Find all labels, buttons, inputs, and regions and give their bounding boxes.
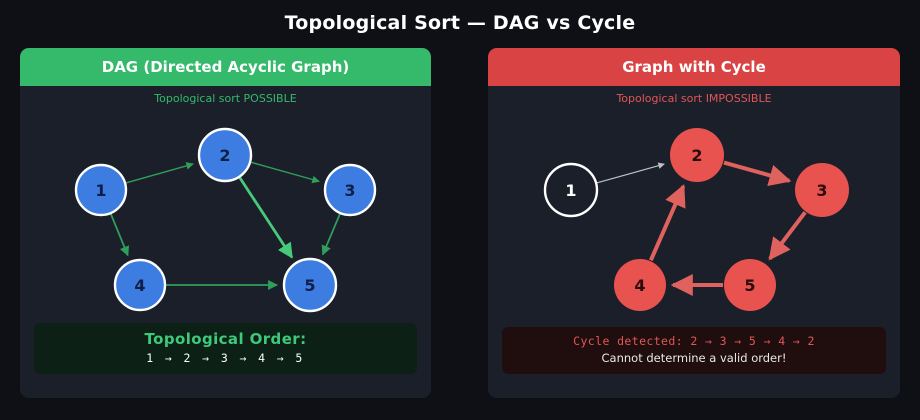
panel-dag: DAG (Directed Acyclic Graph) Topological… (20, 48, 431, 398)
graph-node-label: 5 (744, 276, 755, 295)
graph-node-label: 5 (304, 276, 315, 295)
graph-node-label: 1 (565, 181, 576, 200)
panel-cycle: Graph with Cycle Topological sort IMPOSS… (488, 48, 900, 398)
topological-order-title: Topological Order: (42, 330, 409, 348)
graph-node-label: 2 (691, 146, 702, 165)
graph-node-3[interactable]: 3 (795, 163, 849, 217)
graph-node-1[interactable]: 1 (545, 164, 597, 216)
graph-node-4[interactable]: 4 (614, 259, 666, 311)
cycle-detected-note: Cannot determine a valid order! (510, 351, 878, 365)
graph-node-2[interactable]: 2 (199, 129, 251, 181)
graph-node-3[interactable]: 3 (325, 165, 375, 215)
graph-edge-2-to-3 (251, 162, 319, 181)
graph-node-1[interactable]: 1 (76, 165, 126, 215)
cycle-detected-box: Cycle detected: 2 → 3 → 5 → 4 → 2 Cannot… (502, 327, 886, 374)
graph-edge-1-to-2 (597, 164, 664, 183)
graph-node-label: 4 (634, 276, 645, 295)
graph-node-5[interactable]: 5 (284, 259, 336, 311)
graph-node-5[interactable]: 5 (724, 259, 776, 311)
graph-node-label: 2 (219, 146, 230, 165)
app-root: Topological Sort — DAG vs Cycle DAG (Dir… (0, 0, 920, 420)
graph-edge-2-to-5 (240, 178, 292, 258)
graph-edge-3-to-5 (323, 214, 340, 255)
graph-node-label: 4 (134, 276, 145, 295)
graph-edge-4-to-2 (651, 186, 684, 260)
graph-node-label: 1 (95, 181, 106, 200)
graph-edge-2-to-3 (724, 163, 789, 181)
graph-edge-1-to-2 (126, 164, 193, 183)
page-title: Topological Sort — DAG vs Cycle (0, 12, 920, 34)
graph-node-2[interactable]: 2 (670, 128, 724, 182)
cycle-detected-text: Cycle detected: 2 → 3 → 5 → 4 → 2 (510, 334, 878, 348)
graph-edge-1-to-4 (111, 214, 128, 255)
topological-order-sequence: 1 → 2 → 3 → 4 → 5 (42, 351, 409, 365)
topological-order-box: Topological Order: 1 → 2 → 3 → 4 → 5 (34, 323, 417, 374)
graph-node-label: 3 (816, 181, 827, 200)
graph-node-4[interactable]: 4 (115, 260, 165, 310)
graph-edge-3-to-5 (770, 212, 805, 258)
graph-node-label: 3 (344, 181, 355, 200)
